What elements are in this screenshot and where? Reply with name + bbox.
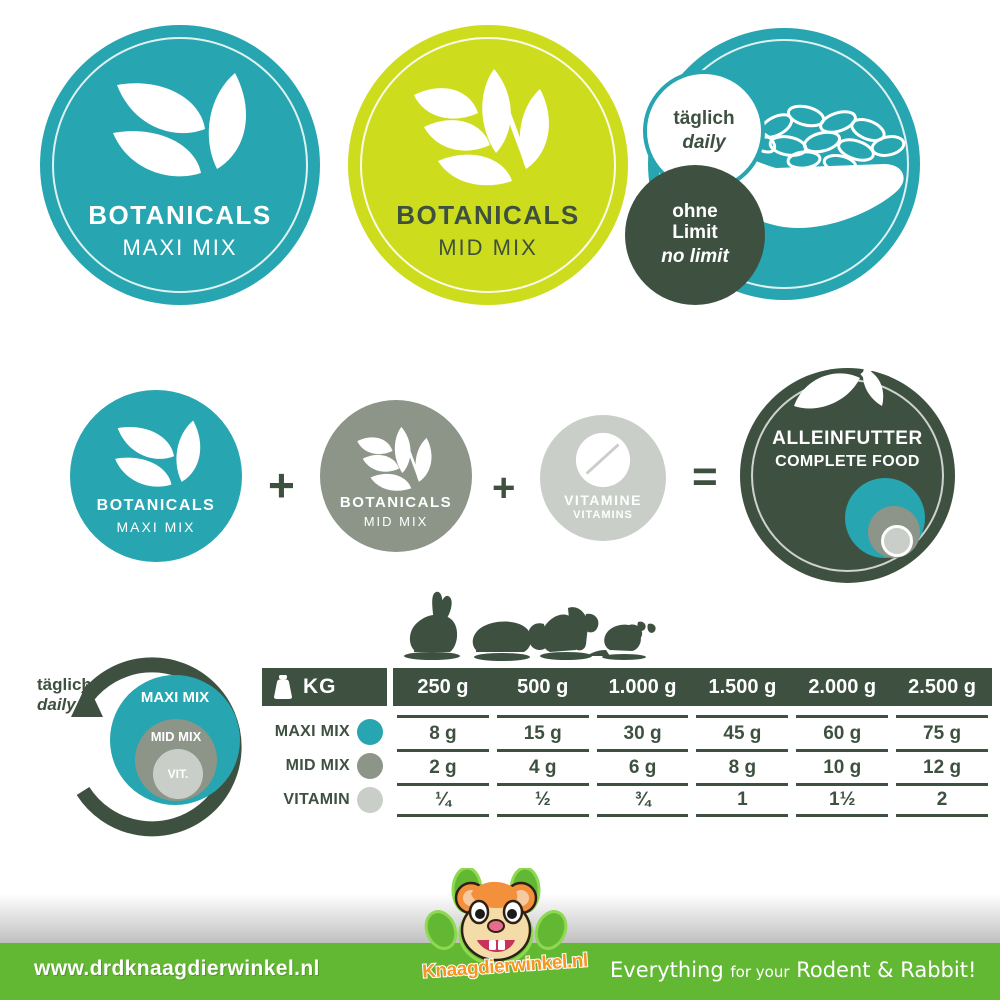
column-header: 2.000 g [792, 668, 892, 706]
row-label-cell: MAXI MIX [262, 715, 387, 749]
row-values: ¼ ½ ¾ 1 1½ 2 [393, 783, 992, 817]
weight-icon [272, 674, 294, 700]
cycle-ring-label: MID MIX [151, 729, 202, 744]
table-cell: 75 g [896, 715, 988, 749]
table-cell: 8 g [397, 715, 489, 749]
table-cell: ¼ [397, 783, 489, 817]
table-body: MAXI MIX 8 g 15 g 30 g 45 g 60 g 75 g MI… [262, 715, 992, 817]
row-color-dot [357, 787, 383, 813]
table-cell: ½ [497, 783, 589, 817]
result-line1: ALLEINFUTTER [740, 428, 955, 450]
guinea-pig-silhouette-icon [473, 621, 531, 661]
cycle-ring-label: VIT. [168, 767, 189, 781]
tablet-pill-icon [574, 431, 632, 489]
hamster-paw-logo-icon[interactable]: Knaagdierwinkel.nl [415, 868, 595, 993]
column-header: 1.500 g [692, 668, 792, 706]
cycle-label: täglich daily [37, 675, 92, 715]
table-row: MAXI MIX 8 g 15 g 30 g 45 g 60 g 75 g [262, 715, 992, 749]
two-leaves-icon [105, 67, 255, 187]
bubble-no-limit: ohne Limit no limit [625, 165, 765, 305]
table-cell: ¾ [597, 783, 689, 817]
equation-item-vitamins: VITAMINE VITAMINS [540, 415, 666, 541]
tagline-part2: for your [730, 963, 789, 981]
daily-cycle-diagram: täglich daily MAXI MIX MID MIX VIT. [25, 645, 245, 845]
row-label: MAXI MIX [275, 723, 350, 741]
bubble-daily-line1: täglich [673, 108, 734, 130]
table-cell: 8 g [696, 749, 788, 783]
badge-title: BOTANICALS [396, 202, 580, 228]
chinchilla-silhouette-icon [528, 607, 598, 660]
row-label: MID MIX [286, 757, 350, 775]
row-color-dot [357, 719, 383, 745]
table-row: MID MIX 2 g 4 g 6 g 8 g 10 g 12 g [262, 749, 992, 783]
equation-item-title: VITAMINE [564, 493, 642, 507]
row-label: VITAMIN [283, 791, 350, 809]
two-leaves-icon [110, 416, 206, 494]
badge-botanicals-mid-mix: BOTANICALS MID MIX [348, 25, 628, 305]
column-header: 500 g [493, 668, 593, 706]
table-row: VITAMIN ¼ ½ ¾ 1 1½ 2 [262, 783, 992, 817]
row-values: 2 g 4 g 6 g 8 g 10 g 12 g [393, 749, 992, 783]
equation-item-mid-mix: BOTANICALS MID MIX [320, 400, 472, 552]
badge-title: BOTANICALS [88, 202, 272, 228]
table-cell: 2 g [397, 749, 489, 783]
table-column-headers: 250 g 500 g 1.000 g 1.500 g 2.000 g 2.50… [393, 668, 992, 706]
badge-botanicals-maxi-mix: BOTANICALS MAXI MIX [40, 25, 320, 305]
row-label-cell: VITAMIN [262, 783, 387, 817]
equation-item-subtitle: VITAMINS [573, 510, 633, 521]
plus-sign-1: + [268, 458, 295, 512]
plus-sign-2: + [492, 466, 515, 511]
cycle-ring-vitamin: VIT. [153, 749, 203, 799]
table-cell: 15 g [497, 715, 589, 749]
equation-item-subtitle: MID MIX [364, 515, 429, 528]
cycle-label-line1: täglich [37, 675, 92, 695]
table-cell: 1 [696, 783, 788, 817]
table-cell: 4 g [497, 749, 589, 783]
equals-sign: = [692, 452, 718, 502]
table-header-row: KG 250 g 500 g 1.000 g 1.500 g 2.000 g 2… [262, 668, 992, 706]
result-circle-vit [881, 525, 913, 557]
bubble-nolimit-line2: Limit [672, 223, 717, 244]
leaf-branch-icon [354, 424, 442, 494]
row-values: 8 g 15 g 30 g 45 g 60 g 75 g [393, 715, 992, 749]
table-cell: 30 g [597, 715, 689, 749]
cycle-ring-label: MAXI MIX [141, 689, 209, 706]
equation-item-title: BOTANICALS [340, 495, 452, 510]
table-cell: 10 g [796, 749, 888, 783]
column-header: 250 g [393, 668, 493, 706]
apple-icon [790, 362, 910, 422]
table-cell: 60 g [796, 715, 888, 749]
equation-item-subtitle: MAXI MIX [116, 520, 195, 534]
animal-silhouettes [400, 588, 690, 666]
table-cell: 2 [896, 783, 988, 817]
table-cell: 12 g [896, 749, 988, 783]
leaf-branch-icon [408, 65, 568, 190]
cycle-label-line2: daily [37, 695, 92, 715]
bubble-daily-line2: daily [682, 132, 725, 154]
bubble-nolimit-line3: no limit [661, 246, 729, 268]
table-corner-label: KG [303, 675, 337, 699]
column-header: 1.000 g [593, 668, 693, 706]
feeding-table: KG 250 g 500 g 1.000 g 1.500 g 2.000 g 2… [262, 668, 992, 817]
equation-item-maxi-mix: BOTANICALS MAXI MIX [70, 390, 242, 562]
footer-tagline: Everything for your Rodent & Rabbit! [610, 958, 976, 982]
table-corner-cell: KG [262, 668, 387, 706]
result-line2: COMPLETE FOOD [740, 453, 955, 471]
equation-item-title: BOTANICALS [97, 498, 216, 514]
table-cell: 1½ [796, 783, 888, 817]
bubble-nolimit-line1: ohne [672, 202, 717, 223]
badge-subtitle: MAXI MIX [122, 237, 237, 259]
tagline-part1: Everything [610, 958, 724, 982]
infographic-stage: BOTANICALS MAXI MIX BOTANICALS MID MIX [0, 0, 1000, 1000]
column-header: 2.500 g [892, 668, 992, 706]
tagline-part3: Rodent & Rabbit! [796, 958, 976, 982]
table-cell: 45 g [696, 715, 788, 749]
footer-url[interactable]: www.drdknaagdierwinkel.nl [34, 957, 320, 981]
row-label-cell: MID MIX [262, 749, 387, 783]
table-cell: 6 g [597, 749, 689, 783]
row-color-dot [357, 753, 383, 779]
rabbit-silhouette-icon [404, 592, 460, 660]
badge-subtitle: MID MIX [438, 237, 538, 259]
result-text: ALLEINFUTTER COMPLETE FOOD [740, 428, 955, 471]
